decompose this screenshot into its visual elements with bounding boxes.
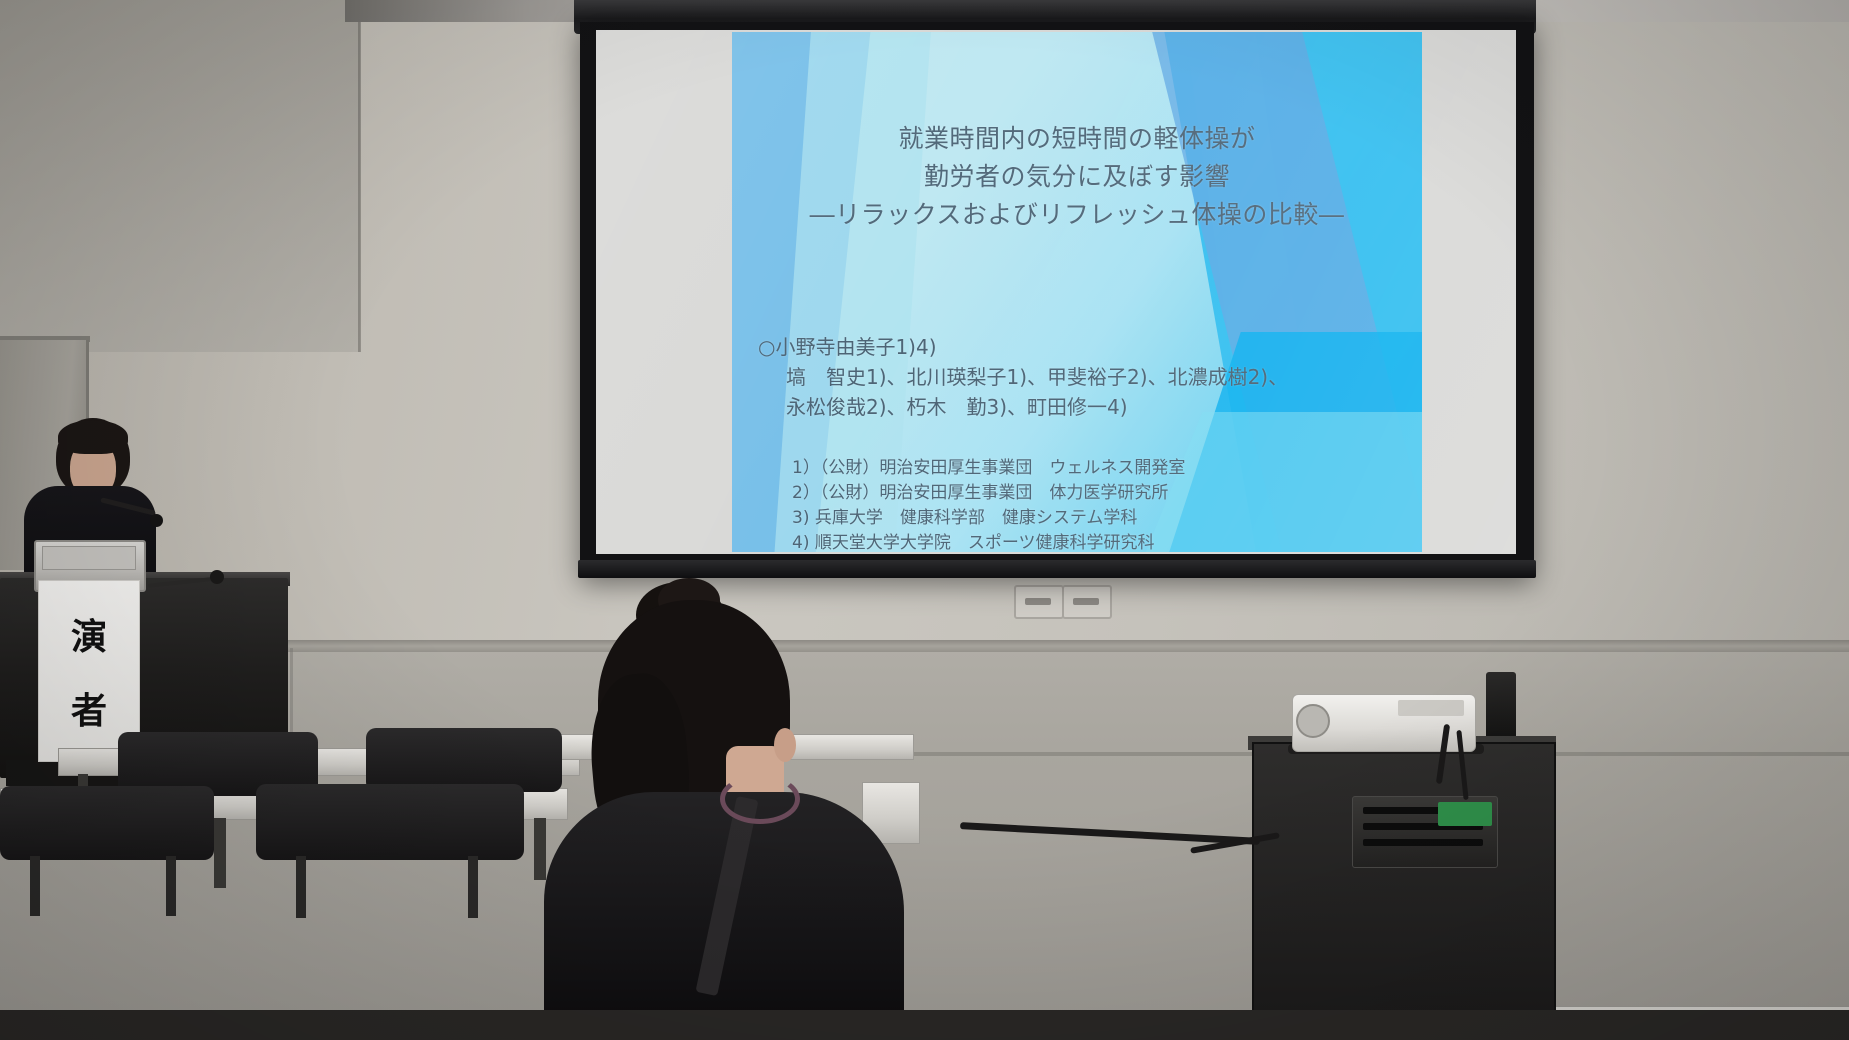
chair[interactable]	[256, 784, 524, 894]
projection-screen-weight-bar	[578, 560, 1536, 578]
slide-author-line-3: 永松俊哉2)、朽木 勤3)、町田修一4)	[786, 392, 1398, 422]
floor	[0, 1010, 1849, 1040]
slide-text-layer: 就業時間内の短時間の軽体操が 勤労者の気分に及ぼす影響 ―リラックスおよびリフレ…	[732, 32, 1422, 552]
slide-title: 就業時間内の短時間の軽体操が 勤労者の気分に及ぼす影響 ―リラックスおよびリフレ…	[732, 120, 1422, 234]
av-cart	[1252, 742, 1556, 1040]
podium-sign-char-2: 者	[71, 682, 107, 734]
chair-backrest	[366, 728, 562, 792]
equipment-indicator-panel	[1438, 802, 1492, 826]
microphone-head	[210, 570, 224, 584]
podium-microphone[interactable]	[148, 548, 220, 588]
slide-affiliation-1: 1）（公財）明治安田厚生事業団 ウェルネス開発室	[792, 456, 1412, 481]
chair-post	[296, 856, 306, 918]
projection-screen-surface: 就業時間内の短時間の軽体操が 勤労者の気分に及ぼす影響 ―リラックスおよびリフレ…	[596, 30, 1516, 554]
presentation-slide: 就業時間内の短時間の軽体操が 勤労者の気分に及ぼす影響 ―リラックスおよびリフレ…	[732, 32, 1422, 552]
chair-post	[166, 856, 176, 916]
conference-room-photo: 就業時間内の短時間の軽体操が 勤労者の気分に及ぼす影響 ―リラックスおよびリフレ…	[0, 0, 1849, 1040]
wall-outlet-plate-right	[1062, 585, 1112, 619]
slide-author-list: ○小野寺由美子1)4) 塙 智史1)、北川瑛梨子1)、甲斐裕子2)、北濃成樹2)…	[758, 332, 1398, 422]
audience-lanyard	[720, 774, 800, 824]
presenter-microphone-head	[150, 514, 163, 527]
audience-member	[540, 578, 910, 1040]
slide-affiliation-3: 3) 兵庫大学 健康科学部 健康システム学科	[792, 506, 1412, 531]
slide-title-line-2: 勤労者の気分に及ぼす影響	[732, 158, 1422, 196]
equipment-slot	[1363, 839, 1483, 846]
wall-seam	[358, 0, 361, 352]
presenter-hair-front	[58, 420, 128, 454]
wall-panel-upper-left	[0, 0, 360, 352]
projector-vent	[1398, 700, 1464, 716]
chair-backrest	[0, 786, 214, 860]
speaker-box	[1486, 672, 1516, 742]
chair-post	[468, 856, 478, 918]
slide-title-line-3: ―リラックスおよびリフレッシュ体操の比較―	[732, 196, 1422, 234]
chair-backrest	[256, 784, 524, 860]
wall-outlet-plate-left	[1014, 585, 1064, 619]
audience-ear	[774, 728, 796, 762]
chair[interactable]	[0, 786, 214, 896]
slide-title-line-1: 就業時間内の短時間の軽体操が	[732, 120, 1422, 158]
slide-author-line-2: 塙 智史1)、北川瑛梨子1)、甲斐裕子2)、北濃成樹2)、	[786, 362, 1398, 392]
slide-affiliation-list: 1）（公財）明治安田厚生事業団 ウェルネス開発室 2）（公財）明治安田厚生事業団…	[792, 456, 1412, 552]
podium-sign-char-1: 演	[71, 608, 107, 660]
slide-affiliation-2: 2）（公財）明治安田厚生事業団 体力医学研究所	[792, 481, 1412, 506]
slide-author-line-1: ○小野寺由美子1)4)	[758, 332, 1398, 362]
chair-post	[30, 856, 40, 916]
slide-affiliation-4: 4) 順天堂大学大学院 スポーツ健康科学研究科	[792, 531, 1412, 552]
laptop-screen	[42, 546, 136, 570]
projector-lens	[1296, 704, 1330, 738]
